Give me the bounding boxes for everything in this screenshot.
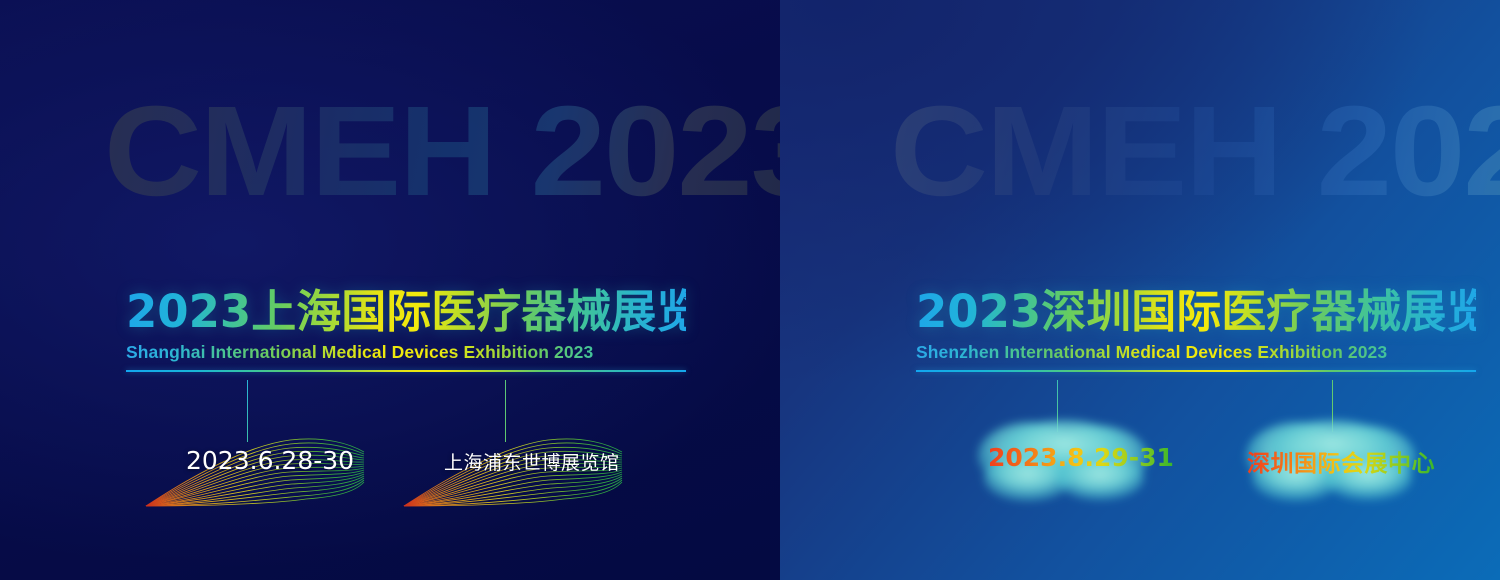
watermark-text-shanghai: CMEH 2023: [104, 88, 780, 216]
panel-shanghai: CMEH 2023 2023上海国际医疗器械展览会 Shanghai Inter…: [0, 0, 780, 580]
english-title-shanghai: Shanghai International Medical Devices E…: [126, 342, 686, 363]
date-badge-shenzhen: 2023.8.29-31: [988, 443, 1174, 472]
title-divider-shenzhen: [916, 370, 1476, 373]
venue-badge-shenzhen: 深圳国际会展中心: [1247, 444, 1435, 478]
title-block-shenzhen: 2023深圳国际医疗器械展览会 Shenzhen International M…: [916, 288, 1476, 372]
date-badge-shanghai: 2023.6.28-30: [186, 446, 354, 475]
banner-stage: CMEH 2023 2023上海国际医疗器械展览会 Shanghai Inter…: [0, 0, 1500, 580]
title-divider-shanghai: [126, 370, 686, 373]
title-block-shanghai: 2023上海国际医疗器械展览会 Shanghai International M…: [126, 288, 686, 372]
venue-badge-shanghai: 上海浦东世博展览馆: [444, 448, 620, 475]
chinese-title-shanghai: 2023上海国际医疗器械展览会: [126, 288, 686, 336]
chinese-title-shenzhen: 2023深圳国际医疗器械展览会: [916, 288, 1476, 336]
english-title-shenzhen: Shenzhen International Medical Devices E…: [916, 342, 1476, 363]
watermark-text-shenzhen: CMEH 2023: [890, 88, 1500, 216]
